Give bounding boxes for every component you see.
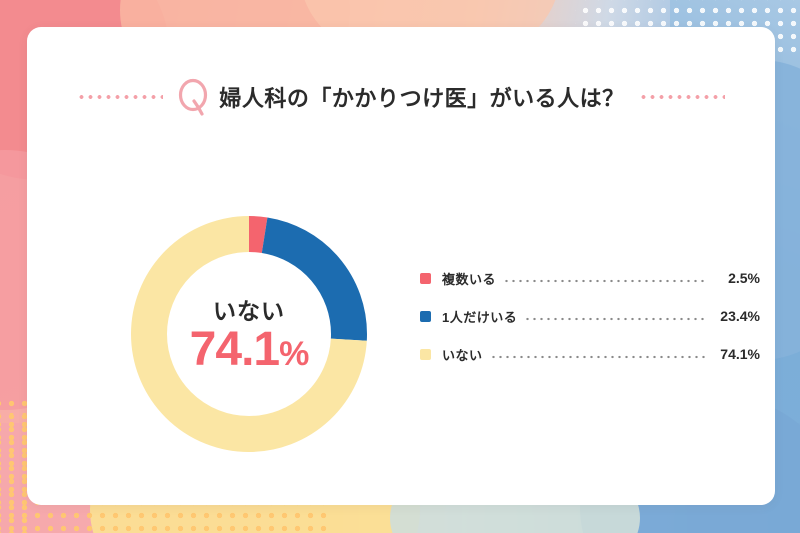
content-card: 婦人科の「かかりつけ医」がいる人は？ いない 74.1% (27, 27, 775, 505)
legend-value: 23.4% (714, 308, 760, 324)
legend-item-fukusu[interactable]: 複数いる 2.5% (420, 259, 760, 297)
chart-legend: 複数いる 2.5% 1人だけいる 23.4% いない 74.1% (420, 259, 760, 373)
legend-item-inai[interactable]: いない 74.1% (420, 335, 760, 373)
legend-value: 74.1% (714, 346, 760, 362)
legend-swatch-icon (420, 273, 431, 284)
legend-swatch-icon (420, 349, 431, 360)
legend-leader-line (524, 317, 707, 321)
legend-swatch-icon (420, 311, 431, 322)
legend-label: いない (442, 345, 483, 364)
donut-chart: いない 74.1% (104, 189, 394, 479)
slide-canvas: 婦人科の「かかりつけ医」がいる人は？ いない 74.1% (0, 0, 800, 533)
page-title: 婦人科の「かかりつけ医」がいる人は？ (219, 81, 624, 113)
title-row: 婦人科の「かかりつけ医」がいる人は？ (27, 77, 775, 117)
dotted-rule-right-icon (639, 95, 725, 99)
legend-leader-line (490, 355, 707, 359)
q-letter-icon (177, 77, 211, 117)
legend-value: 2.5% (714, 270, 760, 286)
legend-item-hitori[interactable]: 1人だけいる 23.4% (420, 297, 760, 335)
legend-leader-line (503, 279, 707, 283)
dotted-rule-left-icon (77, 95, 163, 99)
donut-chart-svg (104, 189, 394, 479)
legend-label: 1人だけいる (442, 307, 517, 326)
legend-label: 複数いる (442, 269, 496, 288)
title-group: 婦人科の「かかりつけ医」がいる人は？ (177, 77, 624, 117)
